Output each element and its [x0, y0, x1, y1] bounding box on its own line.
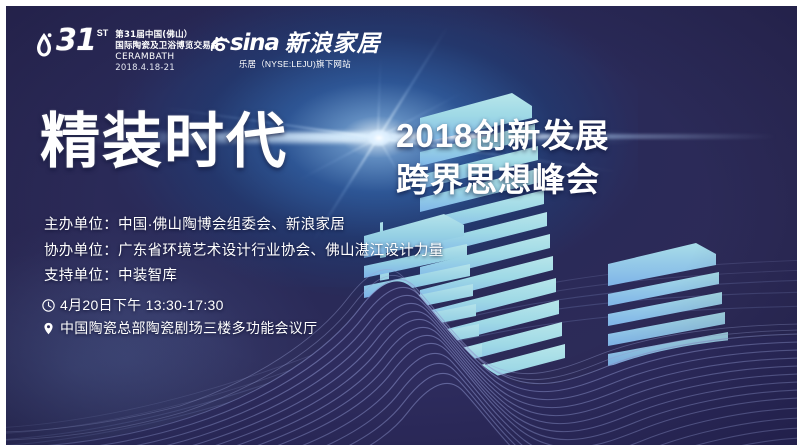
organizer-coorganizer: 协办单位：广东省环境艺术设计行业协会、佛山湛江设计力量 — [44, 239, 444, 265]
clock-icon — [42, 299, 55, 312]
event-meta: 4月20日下午 13:30-17:30 中国陶瓷总部陶瓷剧场三楼多功能会议厅 — [42, 294, 317, 340]
sina-logo-row: sina 新浪家居 — [209, 32, 381, 55]
cerambath-line3: CERAMBATH — [115, 52, 219, 63]
cerambath-line2: 国际陶瓷及卫浴博览交易会 — [115, 41, 219, 52]
sina-wordmark: sina — [230, 32, 279, 55]
event-time-row: 4月20日下午 13:30-17:30 — [42, 294, 317, 317]
cerambath-text-block: 第31届中国(佛山） 国际陶瓷及卫浴博览交易会 CERAMBATH 2018.4… — [115, 30, 219, 74]
sina-brand-cn: 新浪家居 — [285, 32, 381, 55]
subtitle-line-2: 跨界思想峰会 — [396, 158, 609, 202]
map-pin-icon — [42, 322, 55, 335]
cerambath-line1: 第31届中国(佛山） — [115, 30, 219, 41]
cerambath-logo[interactable]: 31 ST 第31届中国(佛山） 国际陶瓷及卫浴博览交易会 CERAMBATH … — [34, 28, 220, 74]
page-title: 精装时代 — [40, 106, 288, 178]
organizer-supporter: 支持单位：中装智库 — [44, 264, 444, 290]
header-logos: 31 ST 第31届中国(佛山） 国际陶瓷及卫浴博览交易会 CERAMBATH … — [6, 6, 800, 86]
sina-logo[interactable]: sina 新浪家居 乐居（NYSE:LEJU)旗下网站 — [209, 32, 381, 70]
edition-suffix: ST — [97, 28, 109, 38]
subtitle-line-1: 2018创新发展 — [396, 114, 609, 158]
flame-droplet-icon — [34, 32, 54, 58]
sina-subtitle: 乐居（NYSE:LEJU)旗下网站 — [209, 58, 381, 70]
event-poster: 31 ST 第31届中国(佛山） 国际陶瓷及卫浴博览交易会 CERAMBATH … — [0, 0, 800, 448]
organizer-list: 主办单位：中国·佛山陶博会组委会、新浪家居 协办单位：广东省环境艺术设计行业协会… — [44, 213, 444, 290]
event-time: 4月20日下午 13:30-17:30 — [60, 294, 224, 317]
page-subtitle: 2018创新发展 跨界思想峰会 — [396, 114, 609, 202]
organizer-host: 主办单位：中国·佛山陶博会组委会、新浪家居 — [44, 213, 444, 239]
cerambath-dates: 2018.4.18-21 — [115, 63, 219, 74]
event-location-row: 中国陶瓷总部陶瓷剧场三楼多功能会议厅 — [42, 317, 317, 340]
poster-stage: 31 ST 第31届中国(佛山） 国际陶瓷及卫浴博览交易会 CERAMBATH … — [6, 6, 800, 448]
event-location: 中国陶瓷总部陶瓷剧场三楼多功能会议厅 — [60, 317, 317, 340]
edition-number: 31 — [56, 28, 96, 54]
sina-eye-icon — [209, 36, 231, 52]
